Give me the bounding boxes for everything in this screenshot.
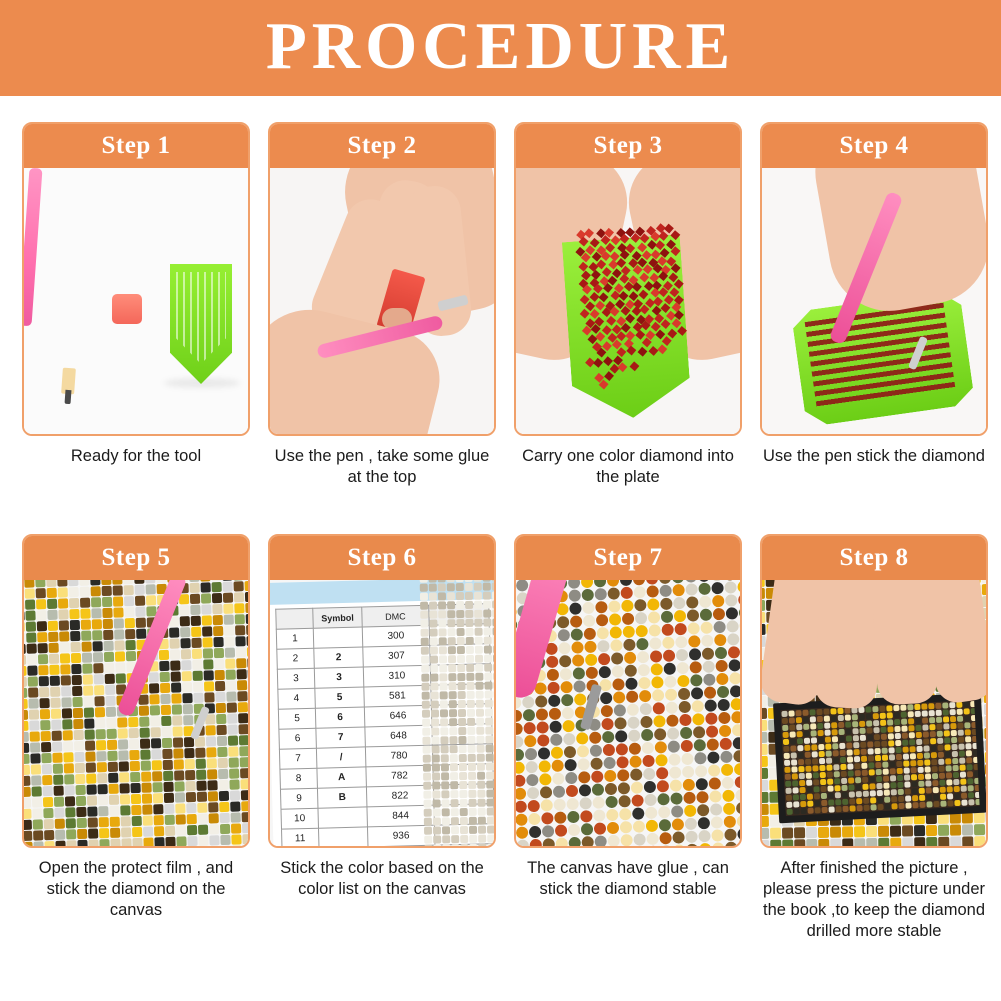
step-1-image (24, 168, 248, 434)
step-1-caption: Ready for the tool (22, 436, 250, 508)
sunflower-canvas-mosaic (24, 580, 248, 846)
step-4-image (762, 168, 986, 434)
step-7-caption: The canvas have glue , can stick the dia… (514, 848, 742, 920)
step-8-card-frame: Step 8 (760, 534, 988, 848)
pen-nib-icon (65, 390, 72, 404)
step-7-label: Step 7 (516, 536, 740, 580)
red-diamonds-pile (572, 217, 688, 404)
step-card-7: Step 7 The canvas have glue , can stick … (514, 534, 742, 942)
step-2-label: Step 2 (270, 124, 494, 168)
step-card-2: Step 2 Use the pen , take some glue at t… (268, 122, 496, 508)
step-8-caption: After finished the picture , please pres… (760, 848, 988, 942)
steps-grid-row-1: Step 1 Ready for the tool Step 2 (0, 96, 1001, 508)
picture-frame (773, 693, 986, 824)
step-8-image (762, 580, 986, 846)
canvas-edge-mosaic (426, 580, 494, 846)
step-2-caption: Use the pen , take some glue at the top (268, 436, 496, 508)
steps-grid-row-2: Step 5 Open the protect film , and stick… (0, 508, 1001, 942)
step-3-label: Step 3 (516, 124, 740, 168)
step-card-4: Step 4 Use the pen stick the diamond (760, 122, 988, 508)
step-card-5: Step 5 Open the protect film , and stick… (22, 534, 250, 942)
step-5-caption: Open the protect film , and stick the di… (22, 848, 250, 921)
step-6-image: SymbolDMC130022307333104558156646676487/… (270, 580, 494, 846)
page-title: PROCEDURE (266, 13, 735, 84)
page-header-banner: PROCEDURE (0, 0, 1001, 96)
step-7-image (516, 580, 740, 846)
step-6-label: Step 6 (270, 536, 494, 580)
step-1-label: Step 1 (24, 124, 248, 168)
step-card-6: Step 6 SymbolDMC130022307333104558156646… (268, 534, 496, 942)
step-card-3: Step 3 Carry one color diamond into the … (514, 122, 742, 508)
framed-artwork-mosaic (780, 700, 979, 816)
step-6-card-frame: Step 6 SymbolDMC130022307333104558156646… (268, 534, 496, 848)
step-4-label: Step 4 (762, 124, 986, 168)
step-3-caption: Carry one color diamond into the plate (514, 436, 742, 508)
step-5-card-frame: Step 5 (22, 534, 250, 848)
step-6-caption: Stick the color based on the color list … (268, 848, 496, 920)
step-7-card-frame: Step 7 (514, 534, 742, 848)
step-1-card-frame: Step 1 (22, 122, 250, 436)
step-card-8: Step 8 After finished the picture , plea… (760, 534, 988, 942)
step-3-card-frame: Step 3 (514, 122, 742, 436)
step-2-card-frame: Step 2 (268, 122, 496, 436)
step-4-card-frame: Step 4 (760, 122, 988, 436)
glue-square-icon (112, 294, 142, 324)
step-8-label: Step 8 (762, 536, 986, 580)
step-5-label: Step 5 (24, 536, 248, 580)
step-5-image (24, 580, 248, 846)
step-3-image (516, 168, 740, 434)
step-2-image (270, 168, 494, 434)
step-card-1: Step 1 Ready for the tool (22, 122, 250, 508)
step-4-caption: Use the pen stick the diamond (760, 436, 988, 508)
